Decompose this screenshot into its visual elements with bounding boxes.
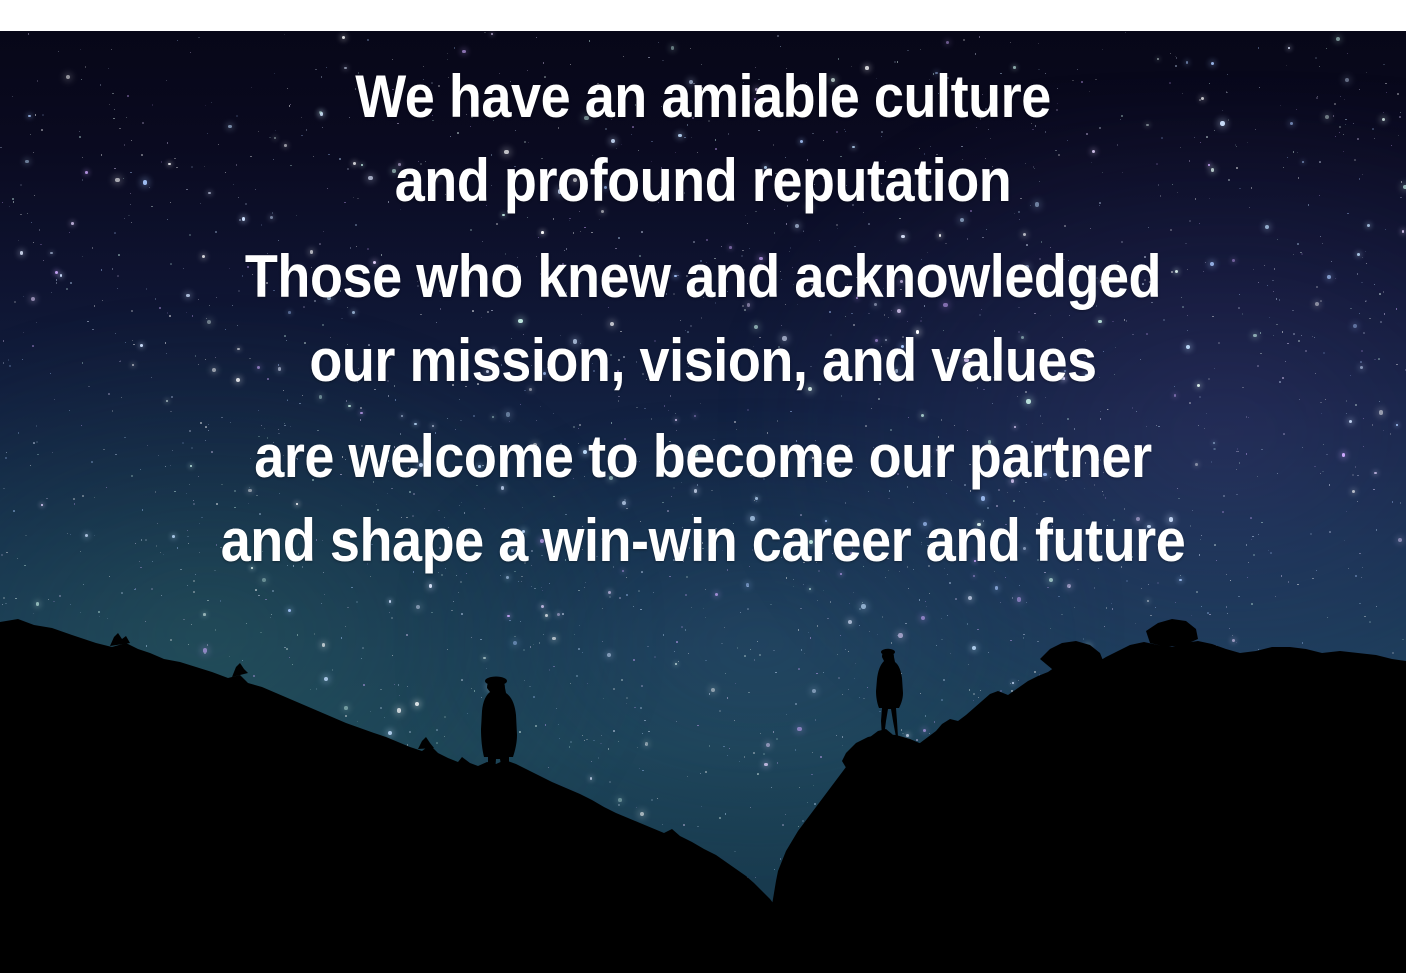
quote-paragraph-partner-future: are welcome to become our partner and sh… bbox=[0, 415, 1406, 583]
quote-text-block: We have an amiable culture and profound … bbox=[0, 55, 1406, 583]
quote-line-3: Those who knew and acknowledged bbox=[70, 235, 1335, 319]
quote-line-6: and shape a win-win career and future bbox=[70, 499, 1335, 583]
quote-line-1: We have an amiable culture bbox=[70, 55, 1335, 139]
quote-paragraph-mission-vision-values: Those who knew and acknowledged our miss… bbox=[0, 235, 1406, 403]
top-white-margin bbox=[0, 0, 1406, 31]
quote-line-4: our mission, vision, and values bbox=[70, 319, 1335, 403]
slide-canvas: We have an amiable culture and profound … bbox=[0, 0, 1406, 973]
quote-line-5: are welcome to become our partner bbox=[70, 415, 1335, 499]
quote-line-2: and profound reputation bbox=[70, 139, 1335, 223]
quote-paragraph-culture-reputation: We have an amiable culture and profound … bbox=[0, 55, 1406, 223]
